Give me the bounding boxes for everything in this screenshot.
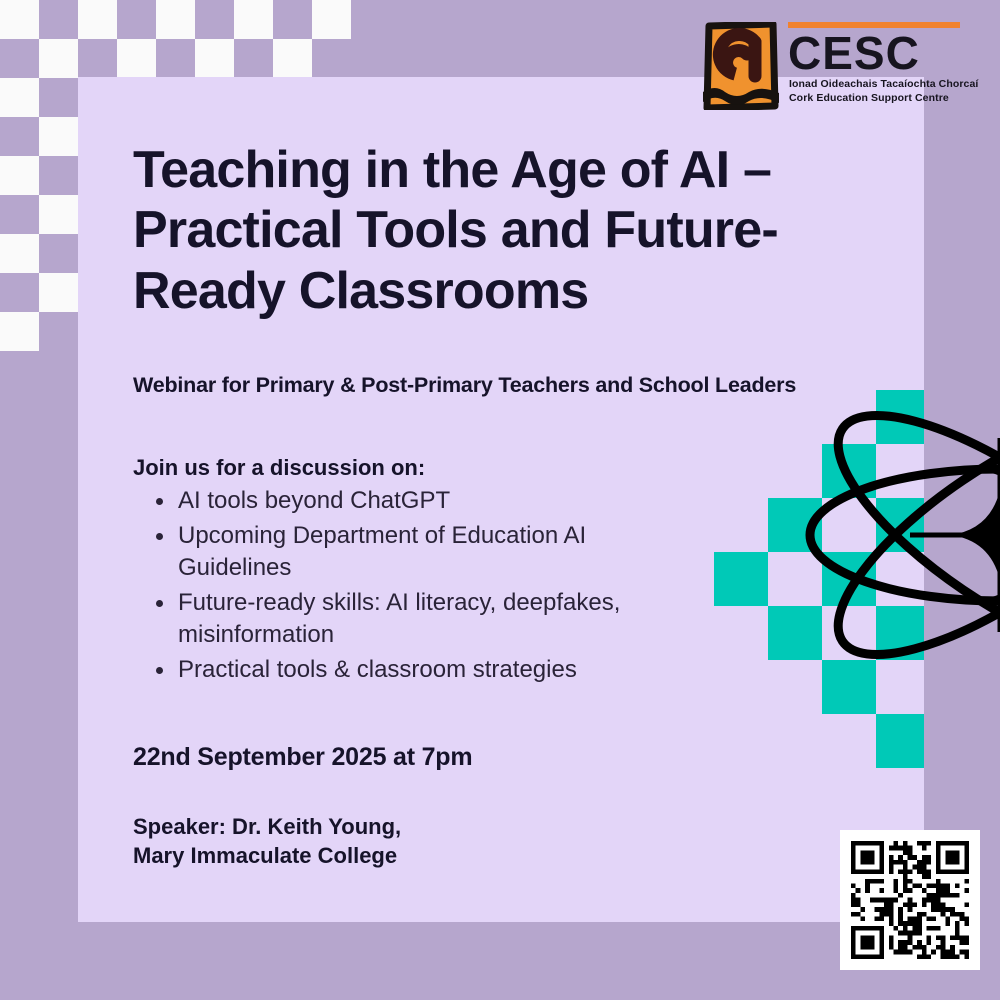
checker-cell [0, 39, 39, 78]
bullets-heading: Join us for a discussion on: [133, 455, 873, 481]
checker-cell [312, 39, 351, 78]
logo-wordmark: CESC [788, 30, 920, 76]
checker-cell [0, 195, 39, 234]
checker-cell [39, 78, 78, 117]
qr-code-modules [851, 841, 969, 959]
checker-cell [39, 39, 78, 78]
speaker-info: Speaker: Dr. Keith Young, Mary Immaculat… [133, 812, 873, 871]
speaker-affiliation: Mary Immaculate College [133, 841, 873, 870]
checker-cell [78, 0, 117, 39]
checker-cell [0, 78, 39, 117]
speaker-name: Speaker: Dr. Keith Young, [133, 812, 873, 841]
teal-checker-cell [876, 606, 930, 660]
checker-cell [39, 0, 78, 39]
list-item: Upcoming Department of Education AI Guid… [133, 520, 678, 585]
checker-cell [117, 0, 156, 39]
cesc-logo: CESC Ionad Oideachais Tacaíochta Chorcaí… [703, 14, 963, 114]
teal-checker-cell [876, 714, 930, 768]
subtitle: Webinar for Primary & Post-Primary Teach… [133, 373, 873, 398]
list-item: Future-ready skills: AI literacy, deepfa… [133, 587, 678, 652]
spiral-logo-icon [703, 22, 779, 110]
checker-cell [312, 0, 351, 39]
teal-checker-cell [876, 390, 930, 444]
checker-cell [156, 0, 195, 39]
logo-tagline-irish: Ionad Oideachais Tacaíochta Chorcaí [789, 78, 978, 90]
page-title: Teaching in the Age of AI – Practical To… [133, 140, 853, 321]
checker-cell [0, 117, 39, 156]
teal-checker-cell [876, 498, 930, 552]
checker-cell [0, 156, 39, 195]
checker-cell [0, 273, 39, 312]
checker-cell [39, 312, 78, 351]
checker-cell [0, 0, 39, 39]
checker-cell [234, 39, 273, 78]
checker-cell [78, 39, 117, 78]
checker-cell [0, 234, 39, 273]
checker-cell [39, 117, 78, 156]
checker-cell [273, 0, 312, 39]
list-item: Practical tools & classroom strategies [133, 654, 678, 687]
checker-cell [39, 234, 78, 273]
poster-canvas: CESC Ionad Oideachais Tacaíochta Chorcaí… [0, 0, 1000, 1000]
checker-cell [0, 312, 39, 351]
checker-cell [156, 39, 195, 78]
checker-cell [273, 39, 312, 78]
logo-tagline-english: Cork Education Support Centre [789, 92, 949, 104]
list-item: AI tools beyond ChatGPT [133, 485, 678, 518]
checker-cell [234, 0, 273, 39]
checker-cell [117, 39, 156, 78]
checker-cell [39, 195, 78, 234]
poster-content: Teaching in the Age of AI – Practical To… [133, 140, 873, 870]
checker-cell [195, 0, 234, 39]
checker-cell [195, 39, 234, 78]
checker-cell [39, 156, 78, 195]
qr-code-icon[interactable] [840, 830, 980, 970]
topics-list: AI tools beyond ChatGPTUpcoming Departme… [133, 485, 678, 687]
checker-cell [39, 273, 78, 312]
event-date: 22nd September 2025 at 7pm [133, 743, 873, 772]
